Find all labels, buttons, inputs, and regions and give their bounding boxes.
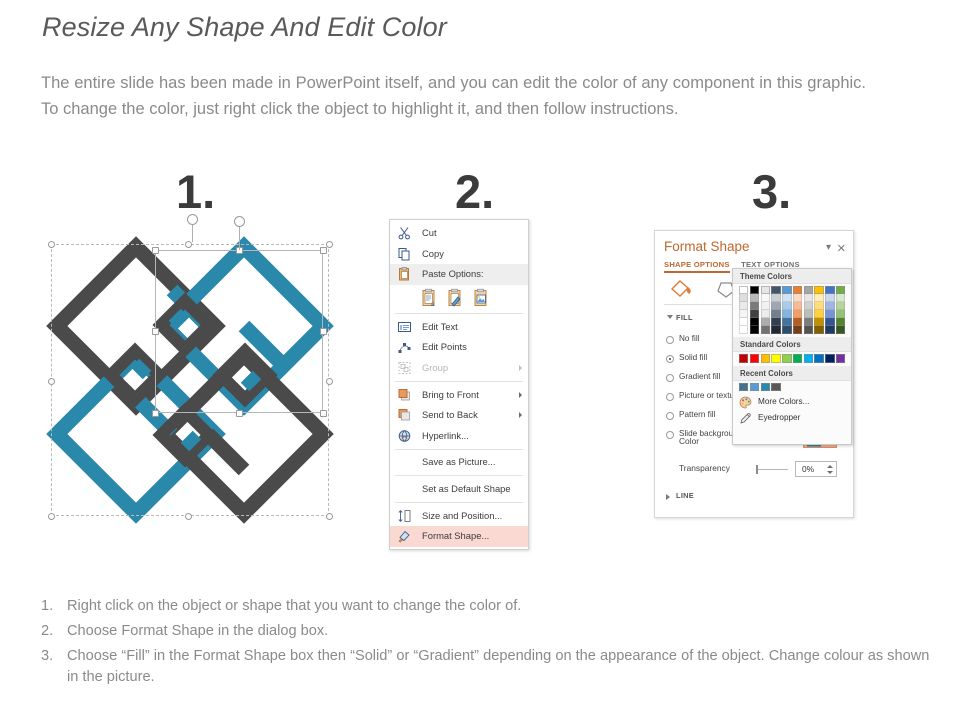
tab-shape-options[interactable]: SHAPE OPTIONS (664, 260, 730, 269)
menu-item-paste-options: Paste Options: (390, 264, 528, 285)
menu-item-label: Copy (422, 248, 444, 259)
color-swatch[interactable] (739, 354, 748, 362)
radio-pattern-fill[interactable]: Pattern fill (679, 410, 715, 419)
color-swatch[interactable] (782, 310, 791, 318)
more-colors-label: More Colors... (758, 397, 809, 406)
menu-item-label: Format Shape... (422, 530, 489, 541)
menu-item-copy[interactable]: Copy (390, 244, 528, 265)
hyperlink-icon (397, 429, 412, 444)
menu-item-bring-to-front[interactable]: Bring to Front (390, 385, 528, 406)
bring-front-icon (397, 387, 412, 402)
menu-item-set-as-default-shape[interactable]: Set as Default Shape (390, 479, 528, 500)
selection-handle[interactable] (320, 328, 327, 335)
color-swatch[interactable] (804, 354, 813, 362)
color-swatch[interactable] (750, 310, 759, 318)
color-swatch[interactable] (825, 302, 834, 310)
radio-label: Gradient fill (679, 372, 720, 381)
menu-item-edit-points[interactable]: Edit Points (390, 337, 528, 358)
active-tab-underline (664, 271, 730, 273)
selection-handle[interactable] (152, 328, 159, 335)
menu-separator (395, 502, 523, 503)
color-swatch[interactable] (793, 354, 802, 362)
paste-destination-theme-icon[interactable]: a (420, 288, 439, 308)
intro-paragraph: The entire slide has been made in PowerP… (41, 70, 866, 122)
color-swatch[interactable] (793, 286, 802, 294)
menu-item-label: Edit Text (422, 321, 458, 332)
section-fill-heading: FILL (676, 313, 693, 322)
theme-color-column[interactable] (782, 286, 791, 334)
color-swatch[interactable] (825, 286, 834, 294)
selection-handle[interactable] (320, 247, 327, 254)
slide-root: Resize Any Shape And Edit Color The enti… (0, 0, 960, 720)
menu-item-label: Send to Back (422, 409, 478, 420)
color-swatch[interactable] (804, 286, 813, 294)
color-swatch[interactable] (739, 294, 748, 302)
color-swatch[interactable] (836, 302, 845, 310)
submenu-arrow-icon (519, 365, 522, 371)
theme-color-column[interactable] (814, 286, 823, 334)
color-swatch[interactable] (761, 286, 770, 294)
selection-handle[interactable] (320, 410, 327, 417)
menu-item-edit-text[interactable]: Edit Text (390, 317, 528, 338)
color-swatch[interactable] (782, 326, 791, 334)
list-item-number: 1. (41, 596, 67, 617)
color-swatch[interactable] (793, 302, 802, 310)
color-swatch[interactable] (793, 318, 802, 326)
copy-icon (397, 246, 412, 261)
color-swatch[interactable] (836, 354, 845, 362)
submenu-arrow-icon (519, 412, 522, 418)
menu-separator (395, 449, 523, 450)
section-line-heading: LINE (676, 491, 694, 500)
color-swatch[interactable] (825, 310, 834, 318)
menu-separator (395, 381, 523, 382)
color-swatch[interactable] (761, 326, 770, 334)
transparency-label: Transparency (679, 463, 730, 473)
selection-handle[interactable] (185, 513, 192, 520)
color-swatch[interactable] (750, 354, 759, 362)
menu-item-send-to-back[interactable]: Send to Back (390, 405, 528, 426)
dialog-title: Format Shape (664, 239, 750, 254)
recent-colors-swatches[interactable] (733, 381, 851, 391)
list-item-number: 2. (41, 621, 67, 642)
theme-color-column[interactable] (750, 286, 759, 334)
paste-options-row[interactable]: a (390, 285, 528, 311)
send-back-icon (397, 408, 412, 423)
selection-handle[interactable] (48, 241, 55, 248)
step-number-1: 1. (176, 168, 215, 215)
color-swatch[interactable] (825, 354, 834, 362)
color-swatch[interactable] (804, 294, 813, 302)
selection-frame-inner (155, 250, 323, 413)
list-item-number: 3. (41, 646, 67, 688)
radio-button (666, 393, 674, 401)
paste-picture-icon[interactable] (472, 288, 491, 308)
color-dropdown[interactable]: Theme Colors Standard Colors Recent Colo… (732, 268, 852, 445)
radio-label: Pattern fill (679, 410, 715, 419)
eyedropper-label: Eyedropper (758, 413, 800, 422)
color-swatch[interactable] (825, 318, 834, 326)
transparency-slider-knob[interactable] (756, 465, 758, 474)
radio-solid-fill[interactable]: Solid fill (679, 353, 707, 362)
transparency-slider-track[interactable] (758, 469, 788, 470)
selection-handle[interactable] (326, 241, 333, 248)
theme-color-column[interactable] (804, 286, 813, 334)
menu-item-save-as-picture[interactable]: Save as Picture... (390, 452, 528, 473)
theme-color-column[interactable] (836, 286, 845, 334)
standard-colors-heading: Standard Colors (733, 337, 851, 352)
color-swatch[interactable] (771, 318, 780, 326)
color-swatch[interactable] (739, 383, 748, 391)
color-swatch[interactable] (750, 318, 759, 326)
color-swatch[interactable] (814, 302, 823, 310)
rotation-stem (192, 224, 193, 242)
color-swatch[interactable] (793, 294, 802, 302)
color-swatch[interactable] (750, 294, 759, 302)
color-label: Color (679, 436, 699, 446)
color-swatch[interactable] (825, 294, 834, 302)
color-swatch[interactable] (771, 354, 780, 362)
list-item-text: Choose Format Shape in the dialog box. (67, 621, 931, 642)
context-menu[interactable]: Cut Copy Paste Options: (389, 219, 529, 550)
group-icon (397, 361, 412, 376)
chevron-down-icon[interactable]: ▾ (826, 242, 831, 253)
color-swatch[interactable] (782, 302, 791, 310)
color-swatch[interactable] (793, 310, 802, 318)
radio-button (666, 336, 674, 344)
color-swatch[interactable] (771, 310, 780, 318)
color-swatch[interactable] (836, 318, 845, 326)
color-swatch[interactable] (782, 286, 791, 294)
theme-color-column[interactable] (825, 286, 834, 334)
selection-handle[interactable] (152, 410, 159, 417)
color-swatch[interactable] (804, 326, 813, 334)
selection-handle[interactable] (48, 378, 55, 385)
step-number-2: 2. (455, 168, 494, 215)
radio-button-selected (666, 355, 674, 363)
color-swatch[interactable] (739, 310, 748, 318)
recent-colors-heading: Recent Colors (733, 366, 851, 381)
more-colors-item[interactable]: More Colors... (733, 394, 851, 410)
edit-text-icon (397, 320, 412, 335)
page-title: Resize Any Shape And Edit Color (42, 12, 447, 43)
color-swatch[interactable] (739, 318, 748, 326)
menu-item-label: Bring to Front (422, 389, 479, 400)
menu-item-label: Cut (422, 227, 437, 238)
color-swatch[interactable] (814, 286, 823, 294)
selection-handle[interactable] (185, 241, 192, 248)
color-swatch[interactable] (836, 286, 845, 294)
color-swatch[interactable] (739, 326, 748, 334)
color-swatch[interactable] (814, 294, 823, 302)
scissors-icon (397, 226, 412, 241)
selection-handle[interactable] (326, 378, 333, 385)
color-swatch[interactable] (782, 354, 791, 362)
rotation-stem (239, 226, 240, 250)
radio-button (666, 431, 674, 439)
shape-illustration-panel (40, 230, 340, 530)
theme-color-column[interactable] (793, 286, 802, 334)
selection-handle[interactable] (236, 410, 243, 417)
clipboard-icon (397, 267, 412, 282)
menu-item-label: Hyperlink... (422, 430, 469, 441)
eyedropper-icon (739, 412, 752, 425)
menu-item-format-shape[interactable]: Format Shape... (390, 526, 528, 547)
color-swatch[interactable] (771, 326, 780, 334)
color-swatch[interactable] (771, 286, 780, 294)
menu-separator (395, 475, 523, 476)
color-swatch[interactable] (782, 294, 791, 302)
menu-item-label: Set as Default Shape (422, 483, 511, 494)
step-number-3: 3. (752, 168, 791, 215)
color-swatch[interactable] (836, 326, 845, 334)
list-item-text: Choose “Fill” in the Format Shape box th… (67, 646, 931, 688)
menu-item-label: Size and Position... (422, 510, 502, 521)
menu-item-group[interactable]: Group (390, 358, 528, 379)
color-swatch[interactable] (804, 310, 813, 318)
color-swatch[interactable] (836, 310, 845, 318)
color-swatch[interactable] (771, 294, 780, 302)
list-item: 1. Right click on the object or shape th… (41, 596, 931, 617)
selection-handle[interactable] (48, 513, 55, 520)
color-swatch[interactable] (750, 302, 759, 310)
color-swatch[interactable] (761, 294, 770, 302)
edit-points-icon (397, 340, 412, 355)
menu-item-label: Save as Picture... (422, 456, 495, 467)
menu-item-size-and-position[interactable]: Size and Position... (390, 506, 528, 527)
selection-handle[interactable] (152, 247, 159, 254)
menu-item-label: Edit Points (422, 341, 467, 352)
eyedropper-item[interactable]: Eyedropper (733, 410, 851, 426)
theme-color-column[interactable] (739, 286, 748, 334)
color-swatch[interactable] (771, 302, 780, 310)
radio-gradient-fill[interactable]: Gradient fill (679, 372, 720, 381)
list-item: 2. Choose Format Shape in the dialog box… (41, 621, 931, 642)
selection-handle[interactable] (326, 513, 333, 520)
submenu-arrow-icon (519, 392, 522, 398)
rotation-handle[interactable] (187, 214, 198, 225)
theme-color-column[interactable] (761, 286, 770, 334)
color-swatch[interactable] (761, 310, 770, 318)
list-item-text: Right click on the object or shape that … (67, 596, 931, 617)
paste-keep-source-icon[interactable] (446, 288, 465, 308)
color-swatch[interactable] (750, 326, 759, 334)
menu-item-label: Paste Options: (422, 268, 484, 279)
color-swatch[interactable] (761, 383, 770, 391)
list-item: 3. Choose “Fill” in the Format Shape box… (41, 646, 931, 688)
menu-item-cut[interactable]: Cut (390, 223, 528, 244)
color-swatch[interactable] (761, 302, 770, 310)
color-swatch[interactable] (804, 318, 813, 326)
color-swatch[interactable] (761, 318, 770, 326)
theme-colors-heading: Theme Colors (733, 269, 851, 284)
color-swatch[interactable] (739, 302, 748, 310)
collapse-triangle-icon[interactable] (666, 494, 670, 500)
format-shape-icon (397, 529, 412, 544)
color-swatch[interactable] (739, 286, 748, 294)
rotation-handle[interactable] (234, 216, 245, 227)
color-swatch[interactable] (814, 310, 823, 318)
color-swatch[interactable] (761, 354, 770, 362)
radio-no-fill[interactable]: No fill (679, 334, 699, 343)
close-icon[interactable]: ✕ (837, 242, 846, 255)
theme-color-column[interactable] (771, 286, 780, 334)
color-swatch[interactable] (814, 318, 823, 326)
color-swatch[interactable] (771, 383, 780, 391)
instructions-list: 1. Right click on the object or shape th… (41, 596, 931, 692)
color-swatch[interactable] (750, 286, 759, 294)
color-swatch[interactable] (793, 326, 802, 334)
color-swatch[interactable] (804, 302, 813, 310)
color-swatch[interactable] (750, 383, 759, 391)
transparency-value-input[interactable]: 0% (795, 461, 837, 477)
menu-item-hyperlink[interactable]: Hyperlink... (390, 426, 528, 447)
color-swatch[interactable] (825, 326, 834, 334)
color-swatch[interactable] (814, 354, 823, 362)
color-swatch[interactable] (782, 318, 791, 326)
radio-button (666, 412, 674, 420)
expand-triangle-icon[interactable] (667, 315, 673, 319)
size-position-icon (397, 508, 412, 523)
transparency-value: 0% (802, 464, 814, 474)
color-swatch[interactable] (814, 326, 823, 334)
standard-colors-swatches[interactable] (733, 352, 851, 362)
radio-label: No fill (679, 334, 699, 343)
radio-button (666, 374, 674, 382)
spinner-arrows-icon[interactable] (826, 463, 834, 476)
fill-bucket-icon (672, 281, 691, 296)
theme-colors-swatches[interactable] (733, 284, 851, 334)
palette-icon (739, 396, 752, 409)
color-swatch[interactable] (836, 294, 845, 302)
radio-label: Solid fill (679, 353, 707, 362)
menu-separator (395, 313, 523, 314)
menu-item-label: Group (422, 362, 448, 373)
